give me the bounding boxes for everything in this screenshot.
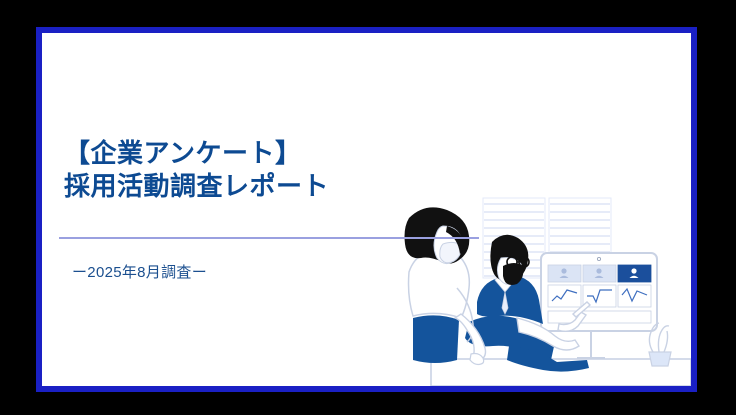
standing-woman-figure — [405, 207, 486, 384]
slide-stage: 【企業アンケート】 採用活動調査レポート ー2025年8月調査ー — [0, 0, 736, 415]
title-divider — [59, 237, 479, 239]
slide-canvas: 【企業アンケート】 採用活動調査レポート ー2025年8月調査ー — [42, 33, 691, 386]
page-title: 【企業アンケート】 採用活動調査レポート — [64, 137, 504, 203]
title-line-2: 採用活動調査レポート — [64, 170, 504, 203]
potted-plant-icon — [649, 323, 671, 366]
avatar-tiles — [548, 265, 651, 282]
slide-blue-frame: 【企業アンケート】 採用活動調査レポート ー2025年8月調査ー — [36, 27, 697, 392]
chart-tiles — [548, 285, 651, 307]
title-line-1: 【企業アンケート】 — [64, 137, 504, 170]
subtitle-text: ー2025年8月調査ー — [72, 261, 207, 282]
title-illustration — [391, 196, 691, 386]
